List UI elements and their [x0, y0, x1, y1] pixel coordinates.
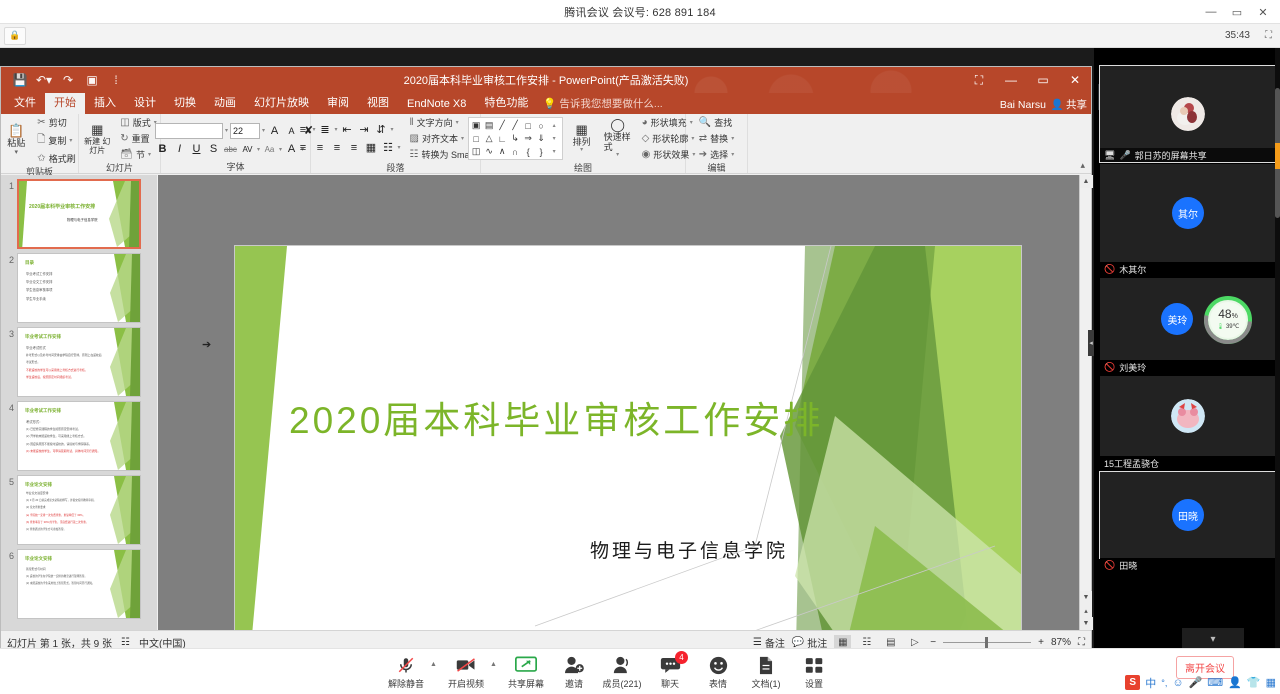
- current-slide[interactable]: 2020届本科毕业审核工作安排 物理与电子信息学院: [234, 245, 1022, 690]
- tell-me-box[interactable]: 💡 告诉我您想要做什么...: [537, 93, 668, 114]
- chevron-down-icon: ▾: [313, 126, 316, 133]
- thumbnail-item[interactable]: 6 毕业论文安排 答辩形式与时间 (1) 返校的学生在学院统一安排的教室进行现场…: [1, 545, 157, 619]
- participants-panel: 正在讲话: 郭日苏: ◆◆ 🖥 🎤 郭日苏的屏幕共: [1094, 48, 1280, 648]
- quick-styles-icon: ◯: [610, 118, 625, 132]
- members-label: 成员(221): [602, 677, 641, 690]
- participant-video: 美玲 48% 🌡 39℃: [1100, 278, 1276, 360]
- freeform-shape-icon[interactable]: ∿: [483, 145, 496, 158]
- text-direction-label: 文字方向: [417, 116, 453, 129]
- line2-shape-icon[interactable]: ╱: [509, 119, 522, 132]
- thumbnail-title: 目录: [25, 260, 34, 266]
- group-label-paragraph: 段落: [386, 162, 404, 174]
- scroll-down-icon[interactable]: ▾: [548, 132, 561, 145]
- fullscreen-icon[interactable]: ⛶: [1265, 30, 1272, 41]
- mic-muted-icon: [397, 655, 415, 675]
- thumbnail-number: 1: [3, 179, 17, 191]
- find-label: 查找: [714, 116, 732, 129]
- tab-home[interactable]: 开始: [45, 93, 85, 114]
- thumbnail-line: 学生毕业手续: [26, 296, 52, 301]
- unmute-label: 解除静音: [388, 677, 424, 690]
- arrange-label: 排列: [573, 137, 591, 147]
- meeting-bottom-toolbar: 解除静音 ▲ 开启视频 ▲: [0, 648, 1280, 694]
- document-icon: [758, 655, 774, 675]
- mic-off-icon: 🚫: [1104, 362, 1115, 373]
- square-shape-icon[interactable]: □: [470, 132, 483, 145]
- ppt-minimize-icon[interactable]: —: [995, 67, 1027, 93]
- thumbnail-line: 不能返校的学生可以采用线上考核方式进行考核。: [26, 368, 102, 372]
- group-label-drawing: 绘图: [574, 162, 592, 174]
- align-text-label: 对齐文本: [422, 132, 458, 145]
- select-label: 选择: [710, 148, 728, 161]
- strikethrough-button[interactable]: abc: [223, 142, 238, 157]
- tab-review[interactable]: 审阅: [318, 93, 358, 114]
- chevron-down-icon: ▾: [580, 147, 583, 154]
- ppt-restore-icon[interactable]: ▭: [1027, 67, 1059, 93]
- next-slide-icon[interactable]: ▼: [1080, 617, 1092, 630]
- paintbrush-icon: ✩: [37, 153, 45, 164]
- thumbnail-line: (a) 学院统一安排一次免费查重，重复率低于 30%。: [26, 513, 96, 517]
- slide-thumbnail-panel[interactable]: 1 2020届本科毕业审核工作安排 物理与电子信息学院 2: [1, 175, 157, 630]
- video-options-caret-icon[interactable]: ▲: [490, 661, 502, 668]
- chevron-down-icon: ▾: [456, 119, 459, 126]
- font-name-input[interactable]: [155, 123, 223, 139]
- thumbnail-line: 毕业考试形式: [26, 345, 102, 350]
- participant-name: 刘美玲: [1119, 361, 1146, 374]
- thumbnail-line: (1) 返校的学生在学院统一安排的教室进行现场答辩。: [26, 574, 95, 578]
- apps-icon[interactable]: ▦: [1266, 676, 1276, 689]
- share-screen-button[interactable]: 共享屏幕: [502, 651, 550, 690]
- replace-button[interactable]: ⇄替换▾: [696, 131, 737, 146]
- search-icon: 🔍: [699, 117, 711, 128]
- cut-button[interactable]: ✂剪切: [34, 115, 78, 130]
- thumbnail-title: 毕业考试工作安排: [25, 334, 61, 340]
- participant-name: 田晓: [1119, 559, 1137, 572]
- cut-label: 剪切: [49, 116, 67, 129]
- chevron-down-icon: ▾: [257, 146, 260, 153]
- panel-scroll-down-button[interactable]: ▾: [1182, 628, 1244, 650]
- humidity-value: 48%: [1204, 307, 1252, 321]
- thumbnail-body: 考试形式： (1) 已经修完课程的学生按照原定安排考试。 (2) 开学前未能返校…: [26, 419, 100, 456]
- thumbnail-number: 4: [3, 401, 17, 413]
- thumbnail-item[interactable]: 5 毕业论文安排 毕业论文进度安排 (1) 3 月 20 日前完成论文初稿的撰写…: [1, 471, 157, 545]
- tab-animations[interactable]: 动画: [205, 93, 245, 114]
- emoji-button[interactable]: 表情: [694, 651, 742, 690]
- thumbnail-line: (2) 未能返校的学生采用线上答辩形式，答辩时间另行通知。: [26, 581, 95, 585]
- canvas-scrollbar[interactable]: ▲ ▼ ▼ ▴: [1079, 175, 1091, 630]
- fit-to-window-icon[interactable]: ⛶: [1078, 637, 1085, 648]
- chevron-down-icon: ▾: [398, 144, 401, 151]
- ribbon-group-drawing: ▣ ▤ ╱ ╱ □ ○ ▴ □ △ ∟ ↳ ⇒ ⇓ ▾ ◫: [481, 114, 686, 173]
- elbow-shape-icon[interactable]: ∟: [496, 132, 509, 145]
- thumbnail-item[interactable]: 3 毕业考试工作安排 毕业考试形式 补考形式以及补考时间安排由学院自行安排，原则…: [1, 323, 157, 397]
- grid-settings-icon: [805, 655, 824, 675]
- meeting-title: 腾讯会议 会议号: 628 891 184: [564, 4, 716, 20]
- bullets-icon[interactable]: ≡: [296, 122, 311, 137]
- tab-design[interactable]: 设计: [125, 93, 165, 114]
- close-icon[interactable]: ✕: [1250, 0, 1276, 24]
- chevron-down-icon: ▾: [335, 126, 338, 133]
- shape-effects-icon: ◉: [642, 149, 651, 160]
- mic-on-icon: 🎤: [1119, 150, 1130, 161]
- emoji-label: 表情: [709, 677, 727, 690]
- tab-endnote[interactable]: EndNote X8: [398, 95, 475, 114]
- participant-nameplate-2: 🚫 木其尔: [1100, 262, 1276, 276]
- scissors-icon: ✂: [37, 117, 45, 128]
- copy-icon: 🗋: [37, 132, 45, 149]
- thumbnail-title: 毕业论文安排: [25, 556, 52, 562]
- panel-resize-handle[interactable]: ◂: [1088, 330, 1094, 356]
- down-arrow-shape-icon[interactable]: ⇓: [535, 132, 548, 145]
- thumbnail-slide-1[interactable]: 2020届本科毕业审核工作安排 物理与电子信息学院: [17, 179, 141, 249]
- paste-label: 粘贴: [7, 138, 25, 148]
- screen-share-icon: 🖥: [1104, 150, 1115, 161]
- thumbnail-title: 毕业考试工作安排: [25, 408, 61, 414]
- docs-button[interactable]: 文档(1): [742, 651, 790, 690]
- find-button[interactable]: 🔍查找: [696, 115, 737, 130]
- group-label-editing: 编辑: [707, 162, 725, 174]
- section-label: 节: [136, 148, 145, 161]
- participant-name: 木其尔: [1119, 263, 1146, 276]
- chevron-down-icon: ▾: [731, 151, 734, 158]
- slide-decoration: [96, 550, 140, 618]
- group-label-font: 字体: [226, 161, 244, 173]
- chevron-down-icon: ▾: [731, 135, 734, 142]
- thumbnail-slide-3[interactable]: 毕业考试工作安排 毕业考试形式 补考形式以及补考时间安排由学院自行安排，原则上在…: [17, 327, 141, 397]
- thumbnail-slide-2[interactable]: 目录 毕业考试工作安排 毕业论文工作安排 学生信息审核事项 学生毕业手续: [17, 253, 141, 323]
- participant-nameplate: 🖥 🎤 郭日苏的屏幕共享: [1100, 148, 1276, 162]
- scroll-down-icon[interactable]: ▼: [1080, 591, 1092, 604]
- slide-decoration: [96, 476, 140, 544]
- redo-icon[interactable]: ↷: [57, 69, 79, 91]
- text-direction-icon: ‖: [410, 117, 414, 128]
- arc-shape-icon[interactable]: ∩: [509, 145, 522, 158]
- invite-button[interactable]: 邀请: [550, 651, 598, 690]
- tencent-meeting-window: 腾讯会议 会议号: 628 891 184 — ▭ ✕ 🔒 35:43 ⛶ 💾 …: [0, 0, 1280, 694]
- tab-file[interactable]: 文件: [5, 93, 45, 114]
- thumbnail-line: 答辩形式与时间: [26, 567, 95, 571]
- text-shadow-button[interactable]: S: [206, 142, 221, 157]
- ribbon-display-options-icon[interactable]: ⛶: [963, 67, 995, 93]
- slide-background-graphics: [235, 246, 1022, 690]
- mouse-cursor: ➔: [202, 338, 211, 351]
- panel-scrollbar[interactable]: [1275, 48, 1280, 648]
- avatar: [1171, 97, 1205, 131]
- tab-view[interactable]: 视图: [358, 93, 398, 114]
- font-size-input[interactable]: 22: [230, 123, 260, 139]
- share-button[interactable]: 👤 共享: [1051, 97, 1087, 112]
- slide-title-text[interactable]: 2020届本科毕业审核工作安排: [289, 390, 823, 444]
- start-video-button[interactable]: 开启视频: [442, 651, 490, 690]
- paste-button[interactable]: 📋 粘贴 ▾: [0, 123, 32, 157]
- ribbon-group-font: ▾ 22 ▾ A A ✘ B I U S abc AV ▾: [161, 114, 311, 173]
- zoom-slider[interactable]: [943, 635, 1031, 649]
- quick-styles-label: 快速样式: [604, 132, 632, 153]
- chat-unread-badge: 4: [675, 651, 688, 664]
- participant-tile-1[interactable]: 🖥 🎤 郭日苏的屏幕共享: [1100, 66, 1276, 162]
- new-slide-label: 新建 幻灯片: [82, 137, 112, 155]
- slide-decoration: [96, 402, 140, 470]
- reset-label: 重置: [132, 132, 150, 145]
- arrow-shape-icon[interactable]: ↳: [509, 132, 522, 145]
- slide-subtitle-text[interactable]: 物理与电子信息学院: [590, 536, 788, 563]
- layout-label: 版式: [133, 116, 151, 129]
- brace-right-shape-icon[interactable]: }: [535, 145, 548, 158]
- slide-decoration: [96, 328, 140, 396]
- chevron-down-icon: ▾: [279, 146, 282, 153]
- mic-off-icon: 🚫: [1104, 560, 1115, 571]
- format-painter-button[interactable]: ✩格式刷: [34, 151, 78, 166]
- thumbnail-body: 答辩形式与时间 (1) 返校的学生在学院统一安排的教室进行现场答辩。 (2) 未…: [26, 567, 95, 589]
- replace-icon: ⇄: [699, 133, 707, 144]
- avatar: 其尔: [1172, 197, 1204, 229]
- comment-icon: 💬: [792, 637, 804, 648]
- smartart-icon: ☷: [410, 149, 419, 160]
- increase-indent-icon[interactable]: ⇥: [357, 122, 372, 137]
- thumbnail-number: 2: [3, 253, 17, 265]
- share-screen-icon: [515, 655, 537, 675]
- new-slide-button[interactable]: ▦ 新建 幻灯片: [79, 122, 115, 156]
- new-slide-icon: ▦: [91, 123, 103, 137]
- members-icon: [612, 655, 632, 675]
- participant-nameplate-4: 15工程孟骁仓: [1100, 456, 1276, 470]
- participant-tile-2[interactable]: 其尔: [1100, 164, 1276, 262]
- thumbnail-line: 考试形式。: [26, 360, 102, 364]
- ribbon-group-slides: ▦ 新建 幻灯片 ◫版式▾ ↻重置 🗃节▾ 幻灯片: [79, 114, 161, 173]
- minimize-icon[interactable]: —: [1198, 0, 1224, 24]
- thumbnail-body: 毕业考试工作安排 毕业论文工作安排 学生信息审核事项 学生毕业手续: [26, 271, 52, 304]
- chat-button[interactable]: 4 聊天: [646, 651, 694, 690]
- temperature-value: 🌡 39℃: [1204, 323, 1252, 330]
- more-shapes-icon[interactable]: ▾: [548, 145, 561, 158]
- thumbnail-slide-5[interactable]: 毕业论文安排 毕业论文进度安排 (1) 3 月 20 日前完成论文初稿的撰写，并…: [17, 475, 141, 545]
- participant-nameplate-3: 🚫 刘美玲: [1100, 360, 1276, 374]
- thumbnail-body: 毕业论文进度安排 (1) 3 月 20 日前完成论文初稿的撰写，并提交指导教师审…: [26, 491, 96, 534]
- person-add-icon: 👤: [1051, 98, 1064, 111]
- participant-tile-5[interactable]: 田晓: [1100, 472, 1276, 558]
- smiley-icon[interactable]: ☺: [1172, 677, 1183, 689]
- participant-name: 郭日苏的屏幕共享: [1135, 149, 1207, 162]
- present-icon[interactable]: ▣: [81, 69, 103, 91]
- group-label-slides: 幻灯片: [106, 162, 133, 174]
- thumbnail-number: 3: [3, 327, 17, 339]
- character-spacing-button[interactable]: AV: [240, 142, 255, 157]
- spellcheck-icon[interactable]: ☷: [121, 637, 130, 648]
- ribbon-group-clipboard: 📋 粘贴 ▾ ✂剪切 🗋复制▾ ✩格式刷 剪贴板: [1, 114, 79, 173]
- ppt-close-icon[interactable]: ✕: [1059, 67, 1091, 93]
- save-icon[interactable]: 💾: [9, 69, 31, 91]
- collapse-ribbon-icon[interactable]: ▴: [1080, 160, 1091, 173]
- tab-slideshow[interactable]: 幻灯片放映: [245, 93, 318, 114]
- thumbnail-line: (4) 未能返校的学生，可申请延期考试，具体时间另行通知。: [26, 449, 100, 453]
- justify-icon[interactable]: ≡: [347, 140, 362, 155]
- italic-button[interactable]: I: [172, 142, 187, 157]
- mic-icon[interactable]: 🎤: [1189, 676, 1203, 689]
- avatar: 田晓: [1172, 499, 1204, 531]
- arrange-icon: ▦: [575, 123, 587, 137]
- start-video-label: 开启视频: [448, 677, 484, 690]
- docs-label: 文档(1): [752, 677, 781, 690]
- bold-button[interactable]: B: [155, 142, 170, 157]
- chevron-down-icon: ▾: [461, 135, 464, 142]
- avatar-photo: [1171, 399, 1205, 433]
- meeting-title-bar: 腾讯会议 会议号: 628 891 184 — ▭ ✕: [0, 0, 1280, 24]
- thermometer-icon: 🌡: [1217, 324, 1225, 330]
- thumbnail-line: (c) 查重通过的学生方可参加答辩。: [26, 527, 96, 531]
- change-case-button[interactable]: Aa: [262, 142, 277, 157]
- rectangle-shape-icon[interactable]: □: [522, 119, 535, 132]
- powerpoint-window-buttons: ⛶ — ▭ ✕: [963, 67, 1091, 93]
- tab-insert[interactable]: 插入: [85, 93, 125, 114]
- thumbnail-slide-4[interactable]: 毕业考试工作安排 考试形式： (1) 已经修完课程的学生按照原定安排考试。 (2…: [17, 401, 141, 471]
- thumbnail-slide-6[interactable]: 毕业论文安排 答辩形式与时间 (1) 返校的学生在学院统一安排的教室进行现场答辩…: [17, 549, 141, 619]
- meeting-sub-bar: 🔒 35:43 ⛶: [0, 24, 1280, 48]
- tab-transitions[interactable]: 切换: [165, 93, 205, 114]
- thumbnail-line: 毕业考试工作安排: [26, 271, 52, 276]
- prev-slide-icon[interactable]: ▴: [1080, 604, 1092, 617]
- align-left-icon[interactable]: ≡: [296, 140, 311, 155]
- participant-tile-4[interactable]: [1100, 376, 1276, 456]
- copy-button[interactable]: 🗋复制▾: [34, 131, 78, 150]
- thumbnail-item[interactable]: 2 目录 毕业考试工作安排 毕业论文工作安排 学生信息审核事项 学生毕业手续: [1, 249, 157, 323]
- sogou-logo-icon[interactable]: S: [1125, 675, 1140, 690]
- thumbnail-line: 考试形式：: [26, 419, 100, 424]
- underline-button[interactable]: U: [189, 142, 204, 157]
- shape-outline-label: 形状轮廓: [652, 132, 688, 145]
- thumbnail-item[interactable]: 4 毕业考试工作安排 考试形式： (1) 已经修完课程的学生按照原定安排考试。 …: [1, 397, 157, 471]
- thumbnail-title: 毕业论文安排: [25, 482, 52, 488]
- unmute-button[interactable]: 解除静音: [382, 651, 430, 690]
- ime-toolbar[interactable]: S 中 °, ☺ 🎤 ⌨ 👤 👕 ▦: [1121, 673, 1280, 692]
- thumbnail-line: (3) 因疫情原因不能按时返校的，请提前与学院联系。: [26, 442, 100, 446]
- thumbnail-line: 学生信息审核事项: [26, 287, 52, 292]
- tab-features[interactable]: 特色功能: [475, 93, 537, 114]
- shape-gallery[interactable]: ▣ ▤ ╱ ╱ □ ○ ▴ □ △ ∟ ↳ ⇒ ⇓ ▾ ◫: [468, 117, 563, 160]
- share-screen-label: 共享屏幕: [508, 677, 544, 690]
- smiley-icon: [709, 655, 728, 675]
- shape-effects-label: 形状效果: [653, 148, 689, 161]
- ime-mode-label[interactable]: 中: [1145, 675, 1156, 691]
- settings-button[interactable]: 设置: [790, 651, 838, 690]
- chevron-down-icon: ▾: [225, 127, 228, 134]
- arrange-button[interactable]: ▦ 排列 ▾: [567, 122, 597, 155]
- brace-left-shape-icon[interactable]: {: [522, 145, 535, 158]
- slide-decoration: [95, 181, 139, 247]
- textbox2-shape-icon[interactable]: ▤: [483, 119, 496, 132]
- columns-icon[interactable]: ▦: [364, 140, 379, 155]
- keyboard-icon[interactable]: ⌨: [1207, 676, 1223, 689]
- textbox-shape-icon[interactable]: ▣: [470, 119, 483, 132]
- cursor-icon: ➔: [699, 149, 707, 160]
- align-right-icon[interactable]: ≡: [330, 140, 345, 155]
- select-button[interactable]: ➔选择▾: [696, 147, 737, 162]
- members-button[interactable]: 成员(221): [598, 651, 646, 690]
- thumbnail-title: 2020届本科毕业审核工作安排: [29, 203, 95, 210]
- quick-styles-button[interactable]: ◯ 快速样式 ▾: [601, 117, 635, 161]
- thumbnail-line: (b) 查重率高于 30% 的学生，须自费进行第二次查重。: [26, 520, 96, 524]
- user-icon[interactable]: 👤: [1228, 676, 1242, 689]
- curve-shape-icon[interactable]: ∧: [496, 145, 509, 158]
- meeting-timer: 35:43: [1225, 30, 1250, 41]
- scroll-up-icon[interactable]: ▴: [548, 119, 561, 132]
- thumbnail-body: 毕业考试形式 补考形式以及补考时间安排由学院自行安排，原则上在返校后 考试形式。…: [26, 345, 102, 382]
- avatar: [1171, 399, 1205, 433]
- zoom-knob[interactable]: [985, 637, 988, 648]
- slide-canvas-area[interactable]: 2020届本科毕业审核工作安排 物理与电子信息学院 ➔: [158, 175, 1079, 630]
- shape-fill-icon: ◕: [642, 117, 648, 128]
- format-painter-label: 格式刷: [49, 152, 76, 165]
- camera-off-icon: [456, 655, 476, 675]
- thumbnail-line: 学生返校后，按照原定时间组织考试。: [26, 375, 102, 379]
- chevron-down-icon: ▾: [262, 127, 265, 134]
- document-title: 2020届本科毕业审核工作安排 - PowerPoint(产品激活失败): [1, 72, 1091, 88]
- zoom-out-button[interactable]: −: [930, 637, 936, 648]
- line-spacing-icon[interactable]: ⇵: [374, 122, 389, 137]
- align-center-icon[interactable]: ≡: [313, 140, 328, 155]
- temperature-widget: 48% 🌡 39℃: [1204, 296, 1252, 344]
- ribbon-tabs: 文件 开始 插入 设计 切换 动画 幻灯片放映 审阅 视图 EndNote X8…: [1, 93, 1091, 114]
- avatar: 美玲: [1161, 303, 1193, 335]
- notes-icon: ☰: [753, 637, 762, 648]
- maximize-icon[interactable]: ▭: [1224, 0, 1250, 24]
- numbering-icon[interactable]: ≣: [318, 122, 333, 137]
- grow-font-icon[interactable]: A: [267, 123, 282, 138]
- chevron-down-icon: ▾: [391, 126, 394, 133]
- text-columns-icon[interactable]: ☷: [381, 140, 396, 155]
- thumbnail-item[interactable]: 1 2020届本科毕业审核工作安排 物理与电子信息学院: [1, 175, 157, 249]
- invite-label: 邀请: [565, 677, 583, 690]
- shape-outline-icon: ◇: [642, 133, 650, 144]
- meeting-window-buttons: — ▭ ✕: [1198, 0, 1276, 24]
- replace-label: 替换: [710, 132, 728, 145]
- lightbulb-icon: 💡: [543, 97, 556, 110]
- ime-punctuation-icon[interactable]: °,: [1161, 678, 1167, 688]
- mic-off-icon: 🚫: [1104, 264, 1115, 275]
- account-area: Bai Narsu 👤 共享: [1000, 97, 1087, 112]
- chevron-down-icon: ▾: [69, 137, 72, 144]
- right-arrow-shape-icon[interactable]: ⇒: [522, 132, 535, 145]
- decrease-indent-icon[interactable]: ⇤: [340, 122, 355, 137]
- lock-icon[interactable]: 🔒: [4, 27, 26, 45]
- scroll-up-icon[interactable]: ▲: [1080, 175, 1092, 188]
- quick-access-toolbar: 💾 ↶▾ ↷ ▣ ⁞: [1, 69, 127, 91]
- audio-options-caret-icon[interactable]: ▲: [430, 661, 442, 668]
- participant-video: [1100, 376, 1276, 456]
- thumbnail-line: (1) 3 月 20 日前完成论文初稿的撰写，并提交指导教师审阅。: [26, 498, 96, 502]
- participant-tile-3[interactable]: 美玲 48% 🌡 39℃: [1100, 278, 1276, 360]
- line-shape-icon[interactable]: ╱: [496, 119, 509, 132]
- thumbnail-line: (1) 已经修完课程的学生按照原定安排考试。: [26, 427, 100, 431]
- participant-video: 田晓: [1100, 472, 1276, 558]
- participant-video: 其尔: [1100, 164, 1276, 262]
- skin-icon[interactable]: 👕: [1247, 676, 1261, 689]
- oval-shape-icon[interactable]: ○: [535, 119, 548, 132]
- thumbnail-line: (2) 开学前未能返校学生，可采用线上考核方式。: [26, 434, 100, 438]
- chevron-down-icon: ▾: [15, 149, 19, 157]
- undo-icon[interactable]: ↶▾: [33, 69, 55, 91]
- triangle-shape-icon[interactable]: △: [483, 132, 496, 145]
- share-label: 共享: [1066, 97, 1087, 112]
- thumbnail-number: 5: [3, 475, 17, 487]
- ribbon-group-editing: 🔍查找 ⇄替换▾ ➔选择▾ 编辑: [686, 114, 748, 173]
- ribbon-group-paragraph: ≡ ▾ ≣ ▾ ⇤ ⇥ ⇵ ▾ ≡ ≡ ≡: [311, 114, 481, 173]
- slide-decoration-left: [19, 181, 27, 249]
- participant-video: 🖥 🎤 郭日苏的屏幕共享: [1100, 66, 1276, 162]
- zoom-in-button[interactable]: +: [1038, 637, 1044, 648]
- customize-icon[interactable]: ⁞: [105, 69, 127, 91]
- rounded-shape-icon[interactable]: ◫: [470, 145, 483, 158]
- participant-name: 15工程孟骁仓: [1104, 457, 1159, 470]
- thumbnail-line: 毕业论文进度安排: [26, 491, 96, 495]
